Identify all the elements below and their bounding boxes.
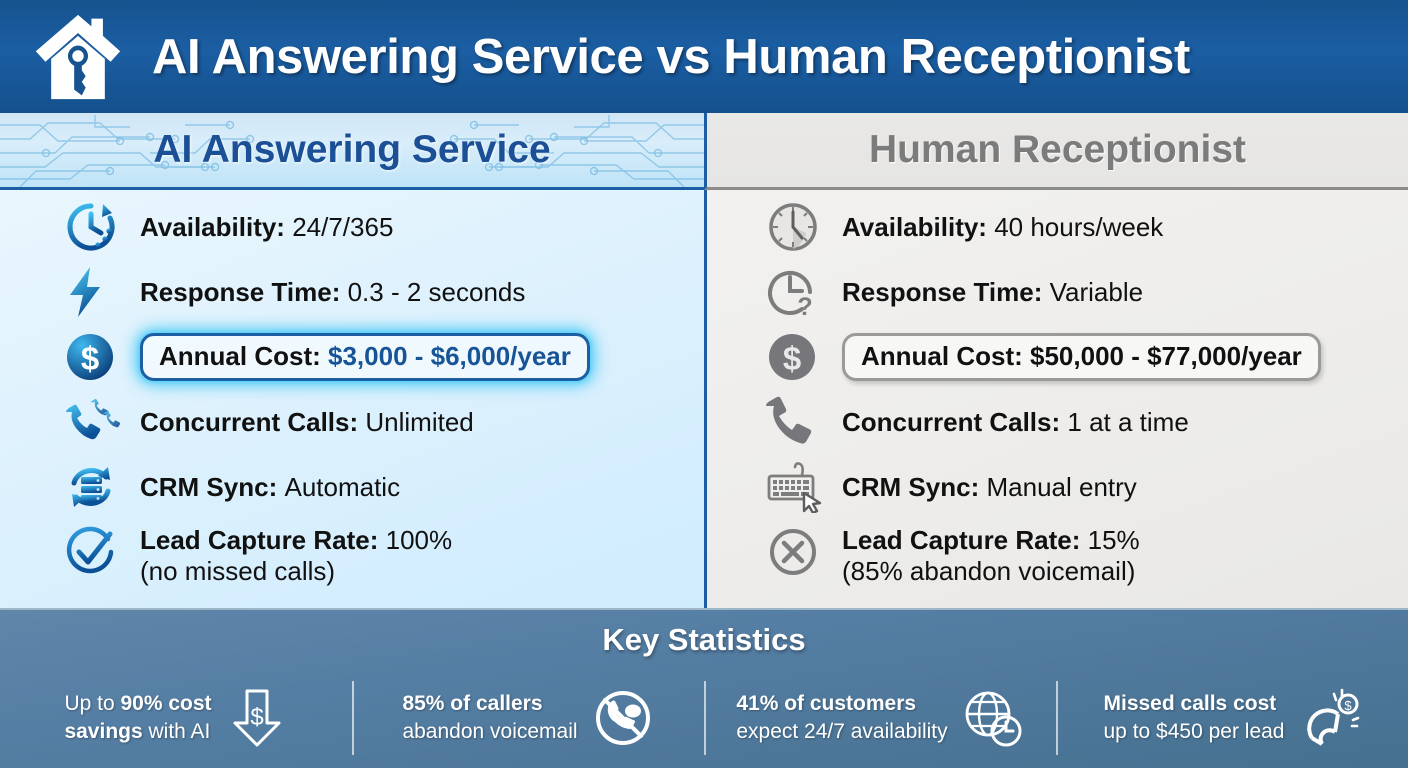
column-human: Availability: 40 hours/week ? Response T… <box>704 190 1408 608</box>
stat-line2-bold: savings <box>64 720 142 743</box>
stat-expect-availability: 41% of customers expect 24/7 availabilit… <box>704 670 1056 766</box>
row-crm-sync-human: CRM Sync: Manual entry <box>707 458 1408 523</box>
clock-question-icon: ? <box>762 263 842 321</box>
svg-text:$: $ <box>783 340 801 377</box>
stat-text: 85% of callers abandon voicemail <box>402 690 577 745</box>
row-text-availability-human: Availability: 40 hours/week <box>842 198 1163 256</box>
row-subtext: (85% abandon voicemail) <box>842 556 1140 587</box>
keyboard-cursor-icon <box>762 458 842 516</box>
analog-clock-icon <box>762 198 842 256</box>
row-label: Response Time: <box>842 277 1042 308</box>
row-concurrent-calls-ai: Concurrent Calls: Unlimited <box>0 393 704 458</box>
annual-cost-highlight-human: Annual Cost: $50,000 - $77,000/year <box>842 333 1321 381</box>
row-lead-capture-human: Lead Capture Rate: 15% (85% abandon voic… <box>707 523 1408 601</box>
row-value: 0.3 - 2 seconds <box>348 277 526 308</box>
infographic-root: AI Answering Service vs Human Receptioni… <box>0 0 1408 768</box>
column-header-human: Human Receptionist <box>704 113 1408 190</box>
stat-line1: 85% of callers <box>402 692 542 715</box>
row-label: Annual Cost: <box>159 341 321 372</box>
stat-cost-savings: Up to 90% cost savings with AI $ <box>0 670 352 766</box>
page-title: AI Answering Service vs Human Receptioni… <box>152 29 1190 85</box>
row-label: Availability: <box>140 212 285 243</box>
key-statistics-footer: Key Statistics Up to 90% cost savings wi… <box>0 608 1408 768</box>
row-value: Automatic <box>284 472 400 503</box>
row-label: Concurrent Calls: <box>842 407 1060 438</box>
row-availability-ai: Availability: 24/7/365 <box>0 198 704 263</box>
stat-abandon-voicemail: 85% of callers abandon voicemail <box>352 670 704 766</box>
row-label: Response Time: <box>140 277 340 308</box>
row-value: Manual entry <box>986 472 1136 503</box>
dollar-coin-icon: $ <box>60 328 140 386</box>
row-text-concurrent-calls-human: Concurrent Calls: 1 at a time <box>842 393 1189 451</box>
crm-sync-icon <box>60 458 140 516</box>
check-circle-icon <box>60 523 140 581</box>
house-key-logo-icon <box>30 11 126 103</box>
svg-text:?: ? <box>797 293 812 319</box>
row-label: Lead Capture Rate: <box>140 525 378 555</box>
column-headers: AI Answering Service Human Receptionist <box>0 113 1408 190</box>
row-value: 15% <box>1088 525 1140 555</box>
row-label: Availability: <box>842 212 987 243</box>
svg-text:$: $ <box>250 704 263 731</box>
stat-text: Up to 90% cost savings with AI <box>64 690 211 745</box>
row-label: Lead Capture Rate: <box>842 525 1080 555</box>
row-value: 1 at a time <box>1067 407 1188 438</box>
down-arrow-dollar-icon: $ <box>226 687 288 749</box>
globe-clock-icon <box>962 687 1024 749</box>
multi-call-icon <box>60 393 140 451</box>
stat-text: 41% of customers expect 24/7 availabilit… <box>736 690 947 745</box>
stat-line1: 41% of customers <box>736 692 916 715</box>
row-annual-cost-human: $ Annual Cost: $50,000 - $77,000/year <box>707 328 1408 393</box>
row-response-time-ai: Response Time: 0.3 - 2 seconds <box>0 263 704 328</box>
footer-stats: Up to 90% cost savings with AI $ 85% of … <box>0 670 1408 766</box>
row-response-time-human: ? Response Time: Variable <box>707 263 1408 328</box>
row-value: Unlimited <box>365 407 473 438</box>
row-value: 40 hours/week <box>994 212 1163 243</box>
column-ai: Availability: 24/7/365 Response Time: 0.… <box>0 190 704 608</box>
title-bar: AI Answering Service vs Human Receptioni… <box>0 0 1408 113</box>
row-lead-capture-ai: Lead Capture Rate: 100% (no missed calls… <box>0 523 704 601</box>
stat-line2: up to $450 per lead <box>1104 718 1285 746</box>
row-label: Concurrent Calls: <box>140 407 358 438</box>
column-title-human: Human Receptionist <box>869 128 1246 172</box>
column-header-ai: AI Answering Service <box>0 113 704 190</box>
stat-missed-calls-cost: Missed calls cost up to $450 per lead $ <box>1056 670 1408 766</box>
dollar-coin-grey-icon: $ <box>762 328 842 386</box>
column-title-ai: AI Answering Service <box>153 128 550 172</box>
row-availability-human: Availability: 40 hours/week <box>707 198 1408 263</box>
row-value: $3,000 - $6,000/year <box>328 341 571 372</box>
row-annual-cost-ai: $ Annual Cost: $3,000 - $6,000/year <box>0 328 704 393</box>
lightning-bolt-icon <box>60 263 140 321</box>
stat-line2: abandon voicemail <box>402 718 577 746</box>
svg-text:$: $ <box>81 340 99 377</box>
row-text-lead-capture-human: Lead Capture Rate: 15% (85% abandon voic… <box>842 523 1140 581</box>
row-value: Variable <box>1050 277 1143 308</box>
row-label: CRM Sync: <box>842 472 979 503</box>
row-crm-sync-ai: CRM Sync: Automatic <box>0 458 704 523</box>
row-value: 100% <box>386 525 453 555</box>
row-text-crm-sync-human: CRM Sync: Manual entry <box>842 458 1137 516</box>
annual-cost-highlight-ai: Annual Cost: $3,000 - $6,000/year <box>140 333 590 381</box>
row-text-crm-sync-ai: CRM Sync: Automatic <box>140 458 400 516</box>
svg-text:$: $ <box>1345 698 1353 713</box>
footer-title: Key Statistics <box>0 622 1408 658</box>
stat-line1: Missed calls cost <box>1104 692 1277 715</box>
no-call-voicemail-icon <box>592 687 654 749</box>
row-label: Annual Cost: <box>861 341 1023 372</box>
row-value: 24/7/365 <box>292 212 393 243</box>
row-text-annual-cost-ai: Annual Cost: $3,000 - $6,000/year <box>140 328 590 386</box>
magnet-dollar-icon: $ <box>1298 687 1360 749</box>
row-value: $50,000 - $77,000/year <box>1030 341 1302 372</box>
comparison-body: Availability: 24/7/365 Response Time: 0.… <box>0 190 1408 608</box>
stat-line1-bold: 90% cost <box>120 692 211 715</box>
stat-line2-rest: with AI <box>143 720 211 743</box>
x-circle-icon <box>762 523 842 581</box>
row-text-concurrent-calls-ai: Concurrent Calls: Unlimited <box>140 393 474 451</box>
row-text-response-time-human: Response Time: Variable <box>842 263 1143 321</box>
stat-line2: expect 24/7 availability <box>736 718 947 746</box>
clock-refresh-icon <box>60 198 140 256</box>
row-text-availability-ai: Availability: 24/7/365 <box>140 198 393 256</box>
row-subtext: (no missed calls) <box>140 556 452 587</box>
row-text-lead-capture-ai: Lead Capture Rate: 100% (no missed calls… <box>140 523 452 581</box>
row-text-response-time-ai: Response Time: 0.3 - 2 seconds <box>140 263 525 321</box>
row-label: CRM Sync: <box>140 472 277 503</box>
phone-handset-icon <box>762 393 842 451</box>
row-text-annual-cost-human: Annual Cost: $50,000 - $77,000/year <box>842 328 1321 386</box>
stat-text: Missed calls cost up to $450 per lead <box>1104 690 1285 745</box>
stat-line1-prefix: Up to <box>64 692 120 715</box>
row-concurrent-calls-human: Concurrent Calls: 1 at a time <box>707 393 1408 458</box>
